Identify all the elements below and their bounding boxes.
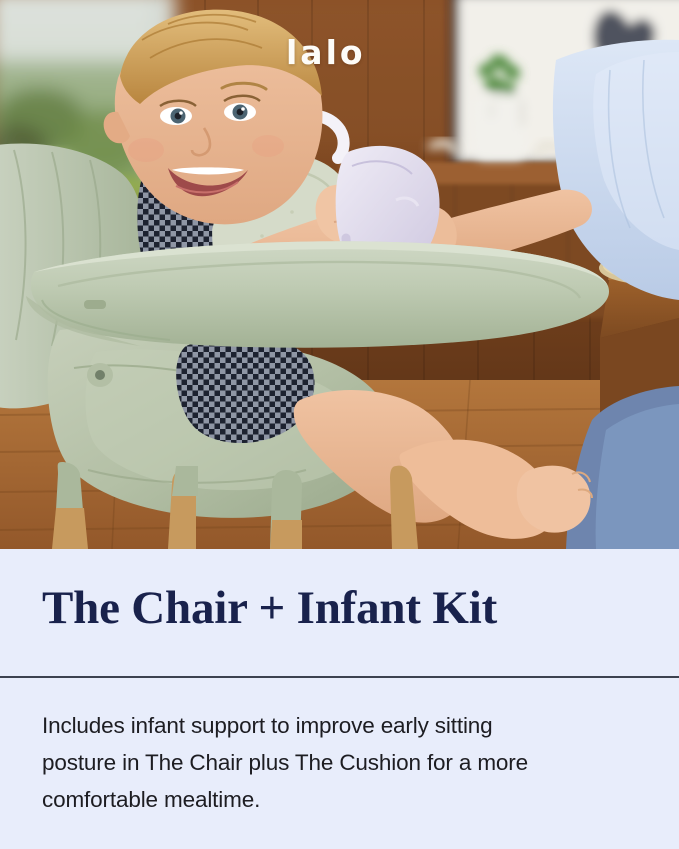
product-description: Includes infant support to improve early… [42, 707, 572, 818]
tray-latch [84, 300, 106, 309]
product-photo: LaLo [0, 0, 679, 549]
product-listing-card: LaLo The Chair + Infant Kit Includes inf… [0, 0, 679, 849]
product-photo-illustration [0, 0, 679, 549]
high-chair-tray [26, 241, 609, 347]
product-info-panel: The Chair + Infant Kit Includes infant s… [0, 549, 679, 849]
brand-logo-text: LaLo [286, 33, 366, 72]
section-divider [0, 676, 679, 678]
product-title: The Chair + Infant Kit [42, 584, 497, 633]
brand-logo: LaLo [286, 36, 366, 69]
chair-side-button [87, 363, 113, 387]
